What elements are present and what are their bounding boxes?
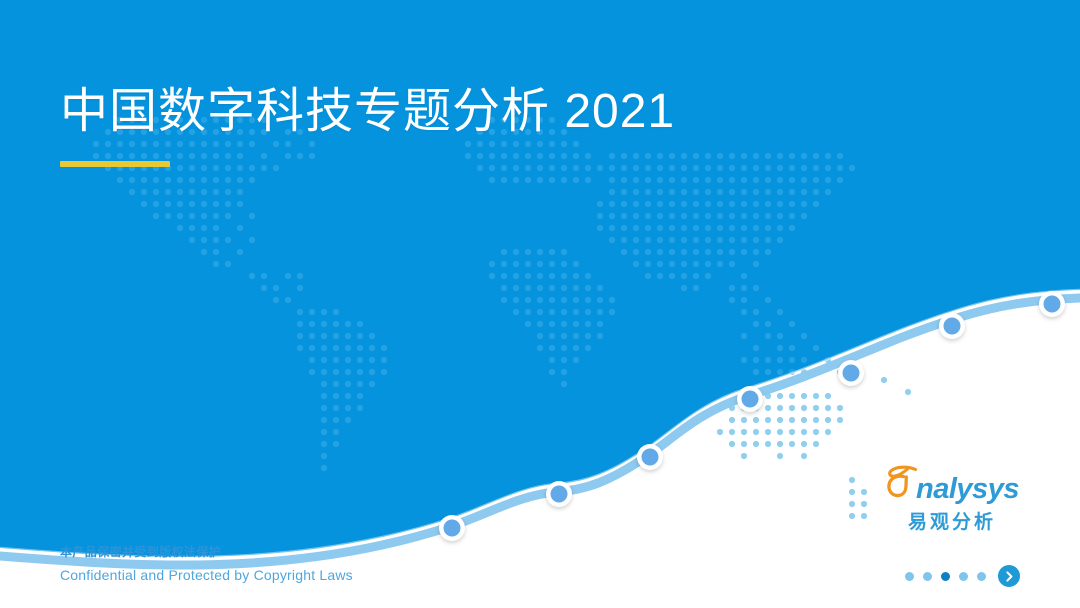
- pagination-dot-4[interactable]: [959, 572, 968, 581]
- page-title: 中国数字科技专题分析 2021: [60, 82, 675, 142]
- slide-canvas: 中国数字科技专题分析 2021 本产品保密并受到版权法保护 Confidenti…: [0, 0, 1080, 608]
- trend-marker: [637, 444, 663, 470]
- trend-marker: [1039, 291, 1065, 317]
- analysys-a-mark-icon: [885, 465, 918, 504]
- title-block: 中国数字科技专题分析 2021: [60, 82, 675, 167]
- copyright-text-cn: 本产品保密并受到版权法保护: [60, 543, 353, 561]
- trend-marker: [439, 515, 465, 541]
- pagination-dot-5[interactable]: [977, 572, 986, 581]
- copyright-text-en: Confidential and Protected by Copyright …: [60, 565, 353, 586]
- trend-marker: [939, 313, 965, 339]
- next-slide-button[interactable]: [998, 565, 1020, 587]
- chevron-right-icon: [1004, 571, 1015, 582]
- trend-marker: [838, 360, 864, 386]
- pagination-dot-1[interactable]: [905, 572, 914, 581]
- trend-marker: [737, 386, 763, 412]
- copyright-footer: 本产品保密并受到版权法保护 Confidential and Protected…: [60, 543, 353, 586]
- logo-wordmark-row: nalysys: [882, 470, 1022, 504]
- title-underline-rule: [60, 161, 170, 167]
- trend-marker: [546, 481, 572, 507]
- logo-name-cn: 易观分析: [882, 507, 1022, 534]
- pagination-dot-3[interactable]: [941, 572, 950, 581]
- logo-wordmark: nalysys: [916, 475, 1019, 504]
- pagination-dot-2[interactable]: [923, 572, 932, 581]
- analysys-logo: nalysys 易观分析: [882, 470, 1022, 534]
- pagination: [905, 565, 1020, 587]
